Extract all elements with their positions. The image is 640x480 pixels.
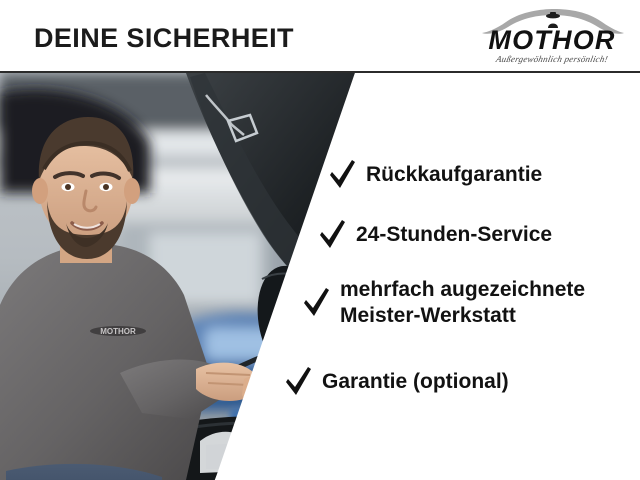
list-item-label: Garantie (optional) bbox=[322, 369, 509, 395]
list-item-label: mehrfach augezeichnete Meister-Werkstatt bbox=[340, 277, 585, 329]
logo-tagline: Außergewöhnlich persönlich! bbox=[477, 54, 627, 64]
list-item: Garantie (optional) bbox=[284, 365, 509, 399]
list-item: Rückkaufgarantie bbox=[328, 158, 542, 192]
list-item-label: Rückkaufgarantie bbox=[366, 162, 542, 188]
logo-wordmark: MOTHOR bbox=[478, 26, 626, 54]
feature-list: Rückkaufgarantie 24-Stunden-Service mehr… bbox=[280, 73, 640, 480]
checkmark-icon bbox=[318, 218, 346, 252]
list-item: 24-Stunden-Service bbox=[318, 218, 552, 252]
promo-banner: MOTHOR bbox=[0, 0, 640, 480]
list-item: mehrfach augezeichnete Meister-Werkstatt bbox=[302, 277, 585, 329]
mothor-logo[interactable]: MOTHOR Außergewöhnlich persönlich! bbox=[478, 9, 626, 67]
banner-header: DEINE SICHERHEIT MOTHOR Außergewöhnlich … bbox=[0, 0, 640, 73]
checkmark-icon bbox=[328, 158, 356, 192]
list-item-label: 24-Stunden-Service bbox=[356, 222, 552, 248]
svg-text:MOTHOR: MOTHOR bbox=[100, 327, 136, 336]
checkmark-icon bbox=[302, 286, 330, 320]
checkmark-icon bbox=[284, 365, 312, 399]
page-title: DEINE SICHERHEIT bbox=[34, 23, 294, 54]
